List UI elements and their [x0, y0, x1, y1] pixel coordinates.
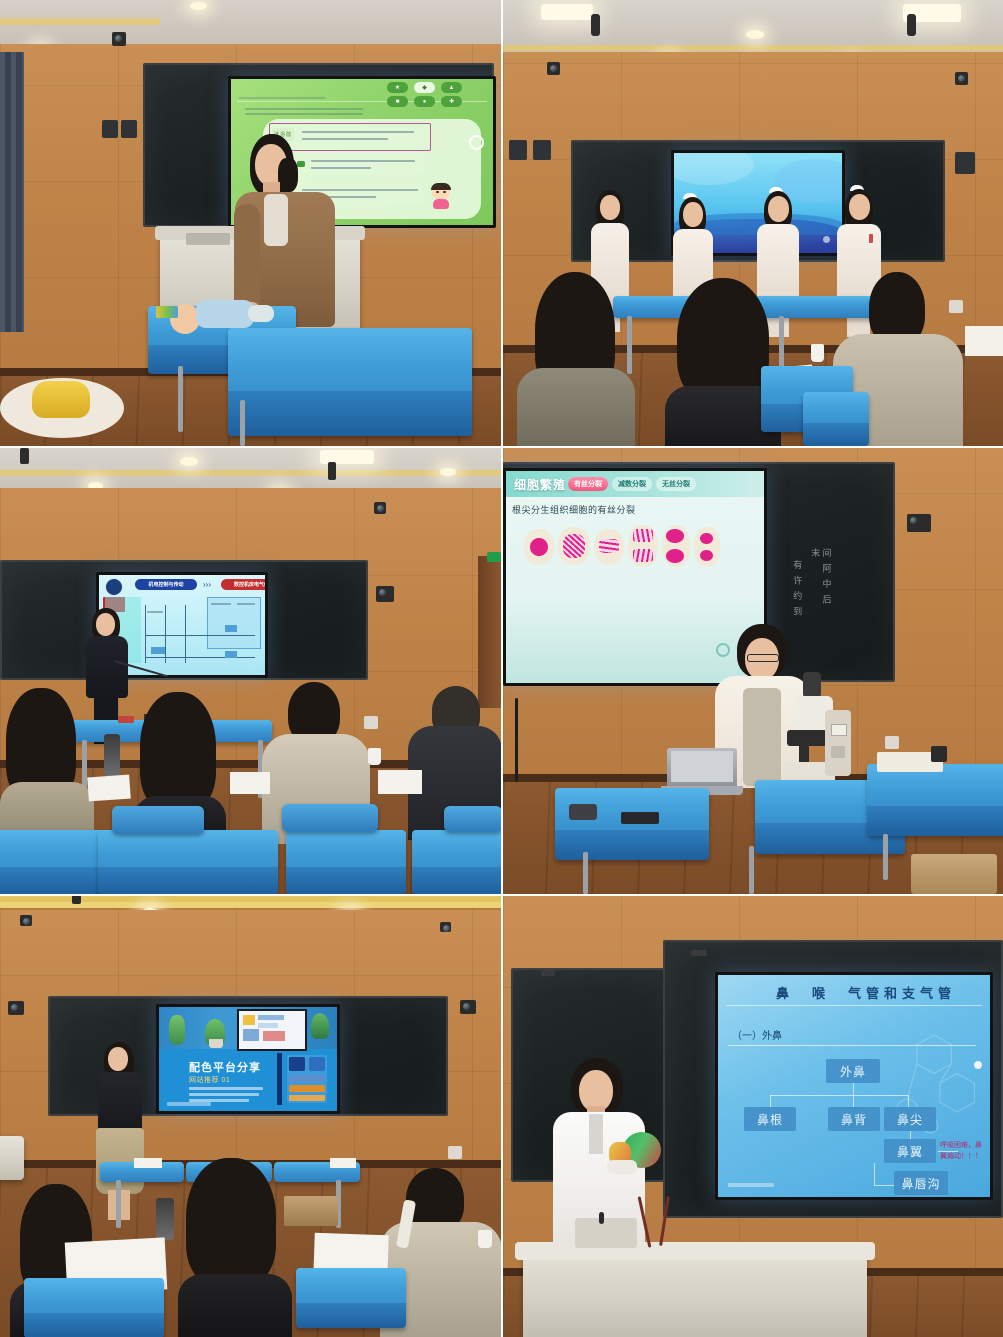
schematic-line [185, 605, 186, 663]
flow-connector [908, 1095, 909, 1107]
student-desk [98, 830, 278, 894]
dark-top [98, 1072, 142, 1132]
student-chair [282, 804, 378, 832]
power-socket [448, 1146, 462, 1159]
wall-speaker [533, 140, 551, 160]
handout-paper [134, 1158, 162, 1168]
screen-indicator-dot [974, 1061, 982, 1069]
slide-toolbar-button[interactable]: ◆ [414, 82, 435, 93]
student-desk [286, 830, 406, 894]
desk-front [867, 806, 1003, 836]
student-desk [24, 1278, 164, 1337]
screen-bracket [691, 950, 707, 956]
slide-canvas: 鼻 喉 气管和支气管 （一）外鼻 外鼻 鼻根 鼻背 鼻尖 鼻翼 呼吸困难，鼻翼煽… [718, 975, 990, 1197]
photo-panel-middle-right: 间 阿 中 后 末 有 许 约 到 细胞繁殖 有丝分裂 减数分裂 无丝分裂 根尖… [503, 448, 1003, 894]
slide-toolbar-button[interactable]: ● [414, 96, 435, 107]
flow-node-nasolabial: 鼻唇沟 [894, 1171, 948, 1195]
monitor-ui-block [243, 1015, 255, 1025]
dome-camera-icon [460, 1000, 476, 1014]
dome-camera-icon [547, 62, 560, 75]
ceiling-cove-light [0, 470, 501, 476]
student-desk [867, 764, 1003, 836]
slide-toolbar-button[interactable]: ▲ [441, 82, 462, 93]
face [683, 202, 703, 227]
student-chair [112, 806, 204, 834]
slide-subtitle: 网站推荐 01 [189, 1075, 230, 1085]
dome-camera-icon [955, 72, 968, 85]
handout-paper [230, 772, 270, 794]
jacket [178, 1274, 292, 1337]
wall-speaker [509, 140, 527, 160]
track-spotlight [72, 896, 81, 904]
flow-connector [853, 1083, 854, 1095]
slide-header-small [239, 94, 325, 99]
slide-toolbar-button[interactable]: ✚ [441, 96, 462, 107]
ceiling-downlight [180, 457, 198, 466]
schematic-line [165, 605, 166, 663]
microphone-icon [599, 1212, 604, 1224]
desk-front [286, 867, 406, 894]
photo-panel-top-right [503, 0, 1003, 446]
handout-paper [378, 770, 422, 794]
screen-cable [515, 698, 518, 782]
projection-screen: 配色平台分享 网站推荐 01 [156, 1004, 340, 1114]
slide-title [245, 108, 363, 115]
projection-screen: 鼻 喉 气管和支气管 （一）外鼻 外鼻 鼻根 鼻背 鼻尖 鼻翼 呼吸困难，鼻翼煽… [715, 972, 993, 1200]
phone[interactable] [621, 812, 659, 824]
side-cabinet [0, 1136, 24, 1180]
monitor-ui-block [258, 1015, 284, 1020]
glasses-icon [747, 654, 779, 662]
wall-speaker [955, 152, 975, 174]
ceiling-cove-light [0, 18, 160, 25]
baby-manikin [170, 296, 280, 336]
monitor-ui-block [263, 1031, 285, 1041]
ui-thumb [289, 1057, 305, 1071]
window-curtain [0, 52, 24, 332]
flow-connector [770, 1095, 771, 1107]
ceiling-panel-light [541, 4, 593, 20]
person-seated-audience [517, 272, 635, 446]
paper-cup [811, 344, 824, 362]
student-desk [412, 830, 501, 894]
slide-title-rule [726, 1005, 982, 1006]
slide-corner-dot [823, 236, 830, 243]
ceiling-downlight [746, 30, 764, 39]
handout-paper [965, 326, 1003, 356]
slide-tab-left[interactable]: 机电控制与传动 [135, 579, 197, 590]
desk-front [803, 423, 869, 446]
chalk-writing: 有 许 约 到 [791, 560, 802, 626]
mitosis-stage-cell [524, 529, 554, 565]
lectern-monitor [575, 1218, 637, 1248]
handout-paper [330, 1158, 356, 1168]
slide-body-line [189, 1093, 259, 1096]
remote-control[interactable] [569, 804, 597, 820]
mitosis-stage-cell [662, 525, 690, 567]
monitor-ui-block [243, 1029, 259, 1041]
lectern [523, 1248, 867, 1337]
specimen-rack [931, 746, 947, 762]
slide-body-line [189, 1087, 263, 1090]
track-spotlight [907, 14, 916, 36]
desk-front [228, 391, 472, 436]
face [600, 195, 620, 220]
flow-node-nose-apex: 鼻尖 [884, 1107, 936, 1131]
face [108, 1047, 128, 1071]
track-spotlight [328, 462, 336, 480]
mitosis-stage-cell [628, 525, 658, 567]
desk-leg [240, 400, 245, 446]
student-desk [555, 788, 709, 860]
desk-front [24, 1313, 164, 1337]
desk-front [296, 1303, 406, 1328]
plant-pot [209, 1039, 223, 1048]
slide-toolbar-button[interactable]: ■ [387, 96, 408, 107]
student-desk [296, 1268, 406, 1328]
slide-tab-mitosis[interactable]: 有丝分裂 [568, 477, 608, 491]
dome-camera-icon [907, 514, 931, 532]
mitosis-stage-cell [594, 529, 624, 565]
slide-footer-icons [167, 1102, 211, 1106]
person-seated-audience [0, 688, 94, 838]
flow-connector [770, 1095, 908, 1096]
dome-camera-icon [112, 32, 126, 46]
dome-camera-icon [8, 1001, 24, 1015]
flow-node-root: 外鼻 [826, 1059, 880, 1083]
paper-cup [368, 748, 381, 765]
desk-front [0, 867, 104, 894]
dome-camera-icon [20, 915, 32, 926]
lab-coat-lapel [589, 1114, 603, 1154]
schematic-node [151, 647, 165, 654]
ui-thumb [289, 1075, 325, 1082]
student-chair [444, 806, 501, 832]
student-desk [228, 328, 472, 436]
face [768, 196, 789, 222]
schematic-label [211, 601, 231, 605]
ui-thumb [309, 1057, 325, 1071]
flow-node-nose-dorsum: 鼻背 [828, 1107, 880, 1131]
handout-paper [87, 775, 131, 802]
slide-canvas: 配色平台分享 网站推荐 01 [159, 1007, 337, 1111]
dome-camera-icon [440, 922, 451, 932]
track-spotlight [20, 448, 29, 464]
desk-front [412, 867, 501, 894]
photo-panel-bottom-left: 配色平台分享 网站推荐 01 [0, 896, 501, 1337]
thermos-flask [156, 1198, 174, 1240]
photo-collage: ★ ◆ ▲ ■ ● ✚ 沐浴前 沐浴中 沐浴后 [0, 0, 1003, 1337]
schematic-line [145, 605, 146, 663]
ceiling-cove-light [503, 45, 1003, 51]
student-desk [803, 392, 869, 446]
photo-panel-top-left: ★ ◆ ▲ ■ ● ✚ 沐浴前 沐浴中 沐浴后 [0, 0, 501, 446]
face [96, 613, 115, 636]
slide-section: （一）外鼻 [732, 1027, 782, 1042]
wall-speaker [102, 120, 118, 138]
ui-thumb [289, 1095, 325, 1101]
plant-photo [311, 1013, 329, 1039]
track-spotlight [591, 14, 600, 36]
slide-progress-dot [469, 135, 484, 150]
microscope [781, 672, 851, 796]
wall-speaker [121, 120, 137, 138]
slide-tab-meiosis[interactable]: 减数分裂 [612, 477, 652, 491]
ceiling-downlight [190, 2, 207, 10]
lectern-monitor [186, 233, 230, 245]
badge [869, 234, 873, 243]
schematic-line [145, 635, 255, 636]
skull-model [607, 1132, 663, 1176]
baby-illustration-icon [429, 183, 453, 209]
thermos-flask [104, 734, 120, 776]
photo-panel-middle-left: 机电控制与传动 ››› 数控机床电气线路 [0, 448, 501, 894]
flow-connector [853, 1095, 854, 1107]
inner-shirt [264, 194, 288, 246]
ui-thumb [289, 1085, 325, 1092]
lectern-top [515, 1242, 875, 1260]
person-seated-audience [176, 1158, 294, 1337]
slide-subtitle: 根尖分生组织细胞的有丝分裂 [512, 503, 636, 516]
ceiling-downlight [440, 468, 456, 476]
dome-camera-icon [374, 502, 386, 514]
flow-node-nose-root: 鼻根 [744, 1107, 796, 1131]
mitosis-stage-cell [694, 527, 720, 567]
schematic-label [237, 601, 255, 605]
slide-emblem-icon [105, 578, 123, 596]
screen-bracket [541, 970, 555, 976]
desk-leg [883, 834, 888, 880]
power-socket [885, 736, 899, 749]
slide-title: 配色平台分享 [189, 1059, 261, 1075]
slide-tab-amitosis[interactable]: 无丝分裂 [656, 477, 696, 491]
slide-section-rule [728, 1045, 976, 1046]
yellow-bag [32, 381, 90, 418]
desk-leg [749, 846, 754, 894]
paper-cup [478, 1230, 492, 1248]
hair-bun [278, 158, 298, 192]
slide-title: 鼻 喉 气管和支气管 [776, 983, 956, 1002]
slide-footer [728, 1183, 774, 1187]
slide-accent-bar [277, 1053, 282, 1105]
mitosis-stage-cell [558, 527, 590, 565]
face [849, 194, 870, 220]
desk-leg [116, 1180, 121, 1228]
schematic-node [225, 651, 237, 658]
flow-node-nose-ala: 鼻翼 [884, 1139, 936, 1163]
schematic-node [225, 625, 237, 632]
wooden-stool [911, 854, 997, 894]
toy-blocks [156, 306, 178, 318]
monitor-ui-block [258, 1023, 278, 1028]
hair [140, 692, 216, 810]
student-desk [0, 830, 104, 894]
flow-connector [874, 1163, 875, 1185]
slide-title: 细胞繁殖 [514, 476, 566, 493]
desk-leg [178, 366, 183, 432]
slide-toolbar-button[interactable]: ★ [387, 82, 408, 93]
vest [743, 688, 781, 786]
photo-panel-bottom-right: 鼻 喉 气管和支气管 （一）外鼻 外鼻 鼻根 鼻背 鼻尖 鼻翼 呼吸困难，鼻翼煽… [503, 896, 1003, 1337]
desk-front [98, 867, 278, 894]
schematic-label [147, 609, 163, 613]
jacket [517, 368, 635, 446]
desk-leg [583, 852, 588, 894]
slide-arrow-icon: ››› [203, 581, 217, 589]
plant-photo [169, 1015, 185, 1045]
desk-front [555, 830, 709, 860]
hair [677, 278, 769, 402]
hair [186, 1158, 276, 1286]
slide-tab-right[interactable]: 数控机床电气线路 [221, 579, 268, 590]
dome-camera-icon [376, 586, 394, 602]
flow-annotation: 呼吸困难，鼻翼煽动！！！ [940, 1141, 988, 1162]
schematic-line [145, 657, 255, 658]
slide-row-body-text [302, 129, 414, 133]
chalk-writing: 间 阿 中 后 末 [809, 548, 832, 620]
exit-sign-icon [487, 552, 501, 562]
